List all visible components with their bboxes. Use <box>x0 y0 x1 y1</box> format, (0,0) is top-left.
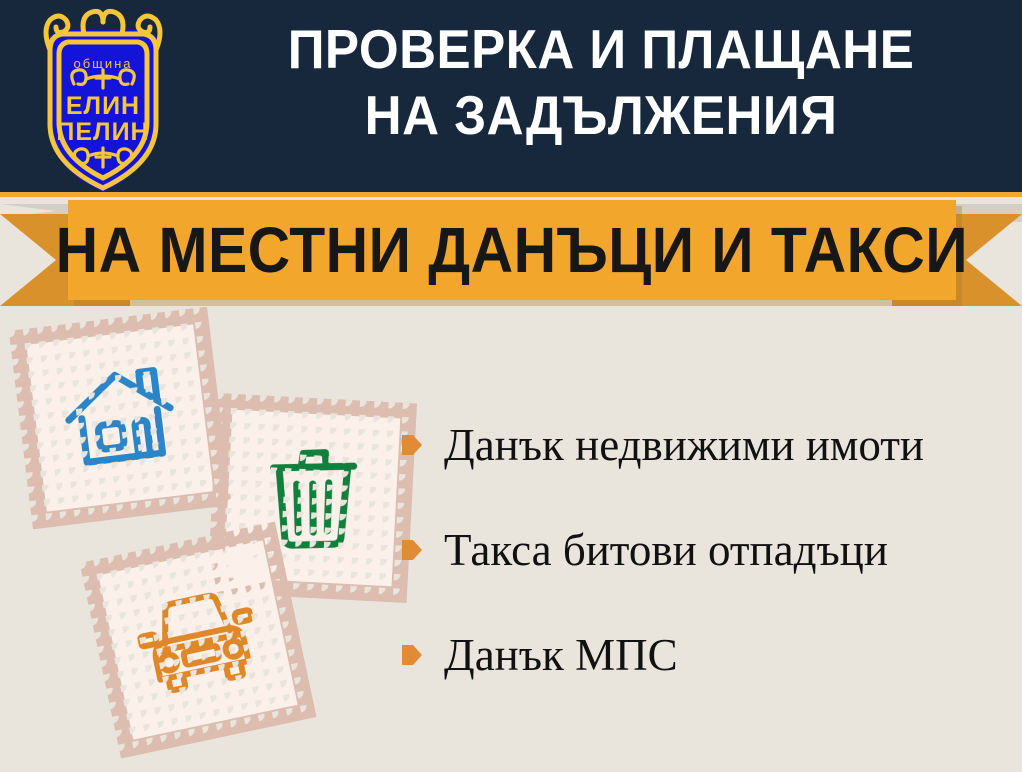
stamp-card-vehicle <box>79 521 316 758</box>
house-icon <box>58 360 182 477</box>
list-item-label: Такса битови отпадъци <box>444 525 888 575</box>
municipality-logo: община ЕЛИН ПЕЛИН <box>28 6 178 196</box>
stamp-illustrations <box>0 300 420 772</box>
ribbon-label: НА МЕСТНИ ДАНЪЦИ И ТАКСИ <box>56 217 968 283</box>
list-item-label: Данък МПС <box>444 630 678 680</box>
arrow-bullet-icon <box>402 643 422 667</box>
list-item[interactable]: Данък МПС <box>402 630 1012 680</box>
page-title: ПРОВЕРКА И ПЛАЩАНЕ НА ЗАДЪЛЖЕНИЯ <box>215 16 987 148</box>
list-item-label: Данък недвижими имоти <box>444 420 924 470</box>
stamp-inner-property <box>26 324 213 511</box>
ribbon-band: НА МЕСТНИ ДАНЪЦИ И ТАКСИ <box>68 200 956 300</box>
list-item[interactable]: Данък недвижими имоти <box>402 420 1012 470</box>
car-front-icon <box>130 580 266 700</box>
logo-name-line1: ЕЛИН <box>66 92 140 120</box>
stamp-card-property <box>9 307 232 530</box>
logo-name-line2: ПЕЛИН <box>56 118 149 146</box>
poster-canvas: община ЕЛИН ПЕЛИН ПРОВЕРКА И П <box>0 0 1022 772</box>
list-item[interactable]: Такса битови отпадъци <box>402 525 1012 575</box>
subtitle-ribbon: НА МЕСТНИ ДАНЪЦИ И ТАКСИ <box>0 196 1022 312</box>
stamp-inner-vehicle <box>98 540 297 739</box>
tax-type-list: Данък недвижими имоти Такса битови отпад… <box>402 420 1012 680</box>
arrow-bullet-icon <box>402 433 422 457</box>
arrow-bullet-icon <box>402 538 422 562</box>
page-title-line-2: НА ЗАДЪЛЖЕНИЯ <box>215 82 987 148</box>
page-title-line-1: ПРОВЕРКА И ПЛАЩАНЕ <box>215 16 987 82</box>
